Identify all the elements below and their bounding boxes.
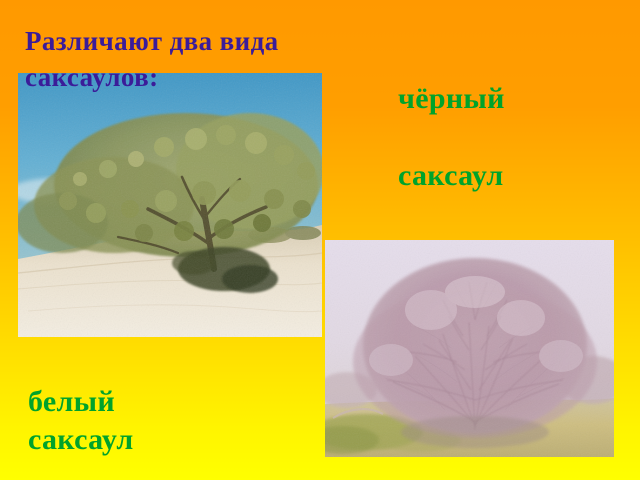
black-saxaul-photo bbox=[18, 73, 322, 337]
slide-canvas: Различают два вида саксаулов: чёрный сак… bbox=[0, 0, 640, 480]
black-saxaul-illustration bbox=[18, 73, 322, 337]
white-saxaul-illustration bbox=[325, 240, 614, 457]
caption-white-saxaul: белый саксаул bbox=[28, 383, 278, 460]
caption-black-saxaul: чёрный саксаул bbox=[398, 80, 618, 195]
page-title: Различают два вида саксаулов: bbox=[25, 24, 425, 95]
white-saxaul-photo bbox=[325, 240, 614, 457]
